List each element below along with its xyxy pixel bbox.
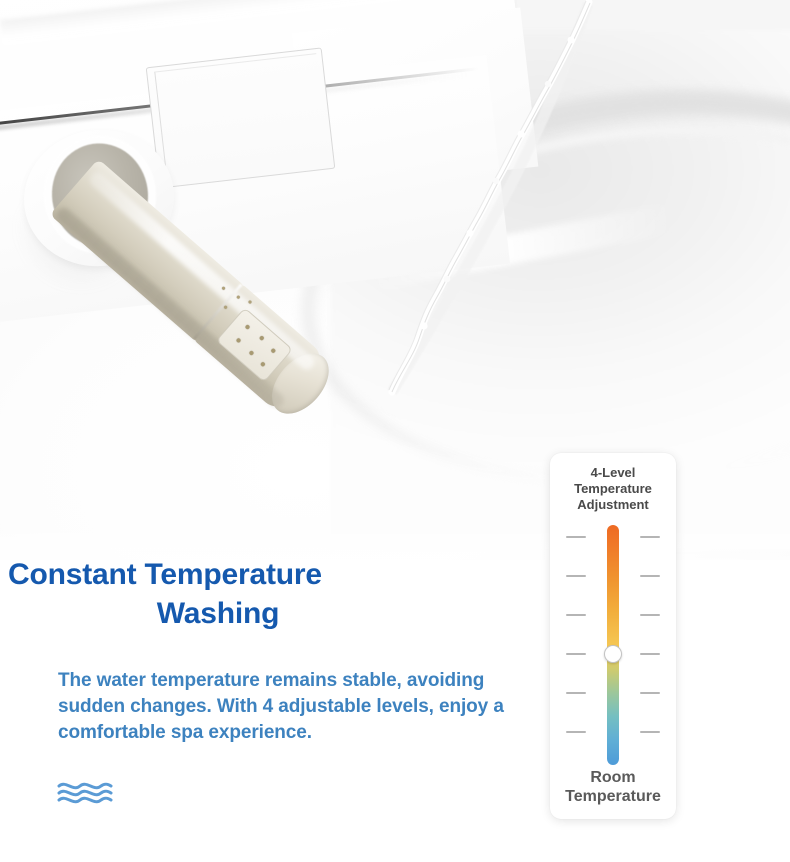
temperature-panel-title-line-1: 4-Level	[591, 465, 636, 480]
slider-tick-right	[640, 692, 660, 694]
spray-hole	[270, 348, 276, 354]
temperature-adjustment-panel[interactable]: 4-Level Temperature Adjustment Room Temp…	[550, 453, 676, 819]
spray-hole	[260, 361, 266, 367]
slider-tick-left	[566, 653, 586, 655]
slider-tick-right	[640, 575, 660, 577]
temperature-panel-footer: Room Temperature	[548, 769, 678, 807]
page-title: Constant Temperature Washing	[8, 555, 428, 633]
temperature-panel-footer-line-1: Room	[590, 769, 635, 786]
slider-tick-left	[566, 692, 586, 694]
spray-hole	[249, 350, 255, 356]
slider-tick-left	[566, 536, 586, 538]
temperature-panel-footer-line-2: Temperature	[565, 788, 661, 805]
temperature-slider-handle[interactable]	[604, 645, 622, 663]
slider-tick-left	[566, 614, 586, 616]
temperature-panel-title-line-3: Adjustment	[577, 497, 649, 512]
slider-tick-left	[566, 731, 586, 733]
slider-tick-right	[640, 731, 660, 733]
temperature-panel-title: 4-Level Temperature Adjustment	[550, 465, 676, 513]
spray-hole	[245, 324, 251, 330]
temperature-panel-title-line-2: Temperature	[574, 481, 652, 496]
page-title-line-2: Washing	[8, 594, 428, 633]
product-feature-page: Constant Temperature Washing The water t…	[0, 0, 790, 862]
spray-hole	[259, 335, 265, 341]
slider-tick-left	[566, 575, 586, 577]
page-title-line-1: Constant Temperature	[8, 555, 428, 594]
slider-tick-right	[640, 614, 660, 616]
housing-access-panel-inner	[154, 53, 329, 182]
slider-tick-right	[640, 653, 660, 655]
wave-icon	[57, 779, 113, 812]
slider-tick-right	[640, 536, 660, 538]
spray-hole	[236, 338, 242, 344]
description-text: The water temperature remains stable, av…	[58, 668, 528, 745]
